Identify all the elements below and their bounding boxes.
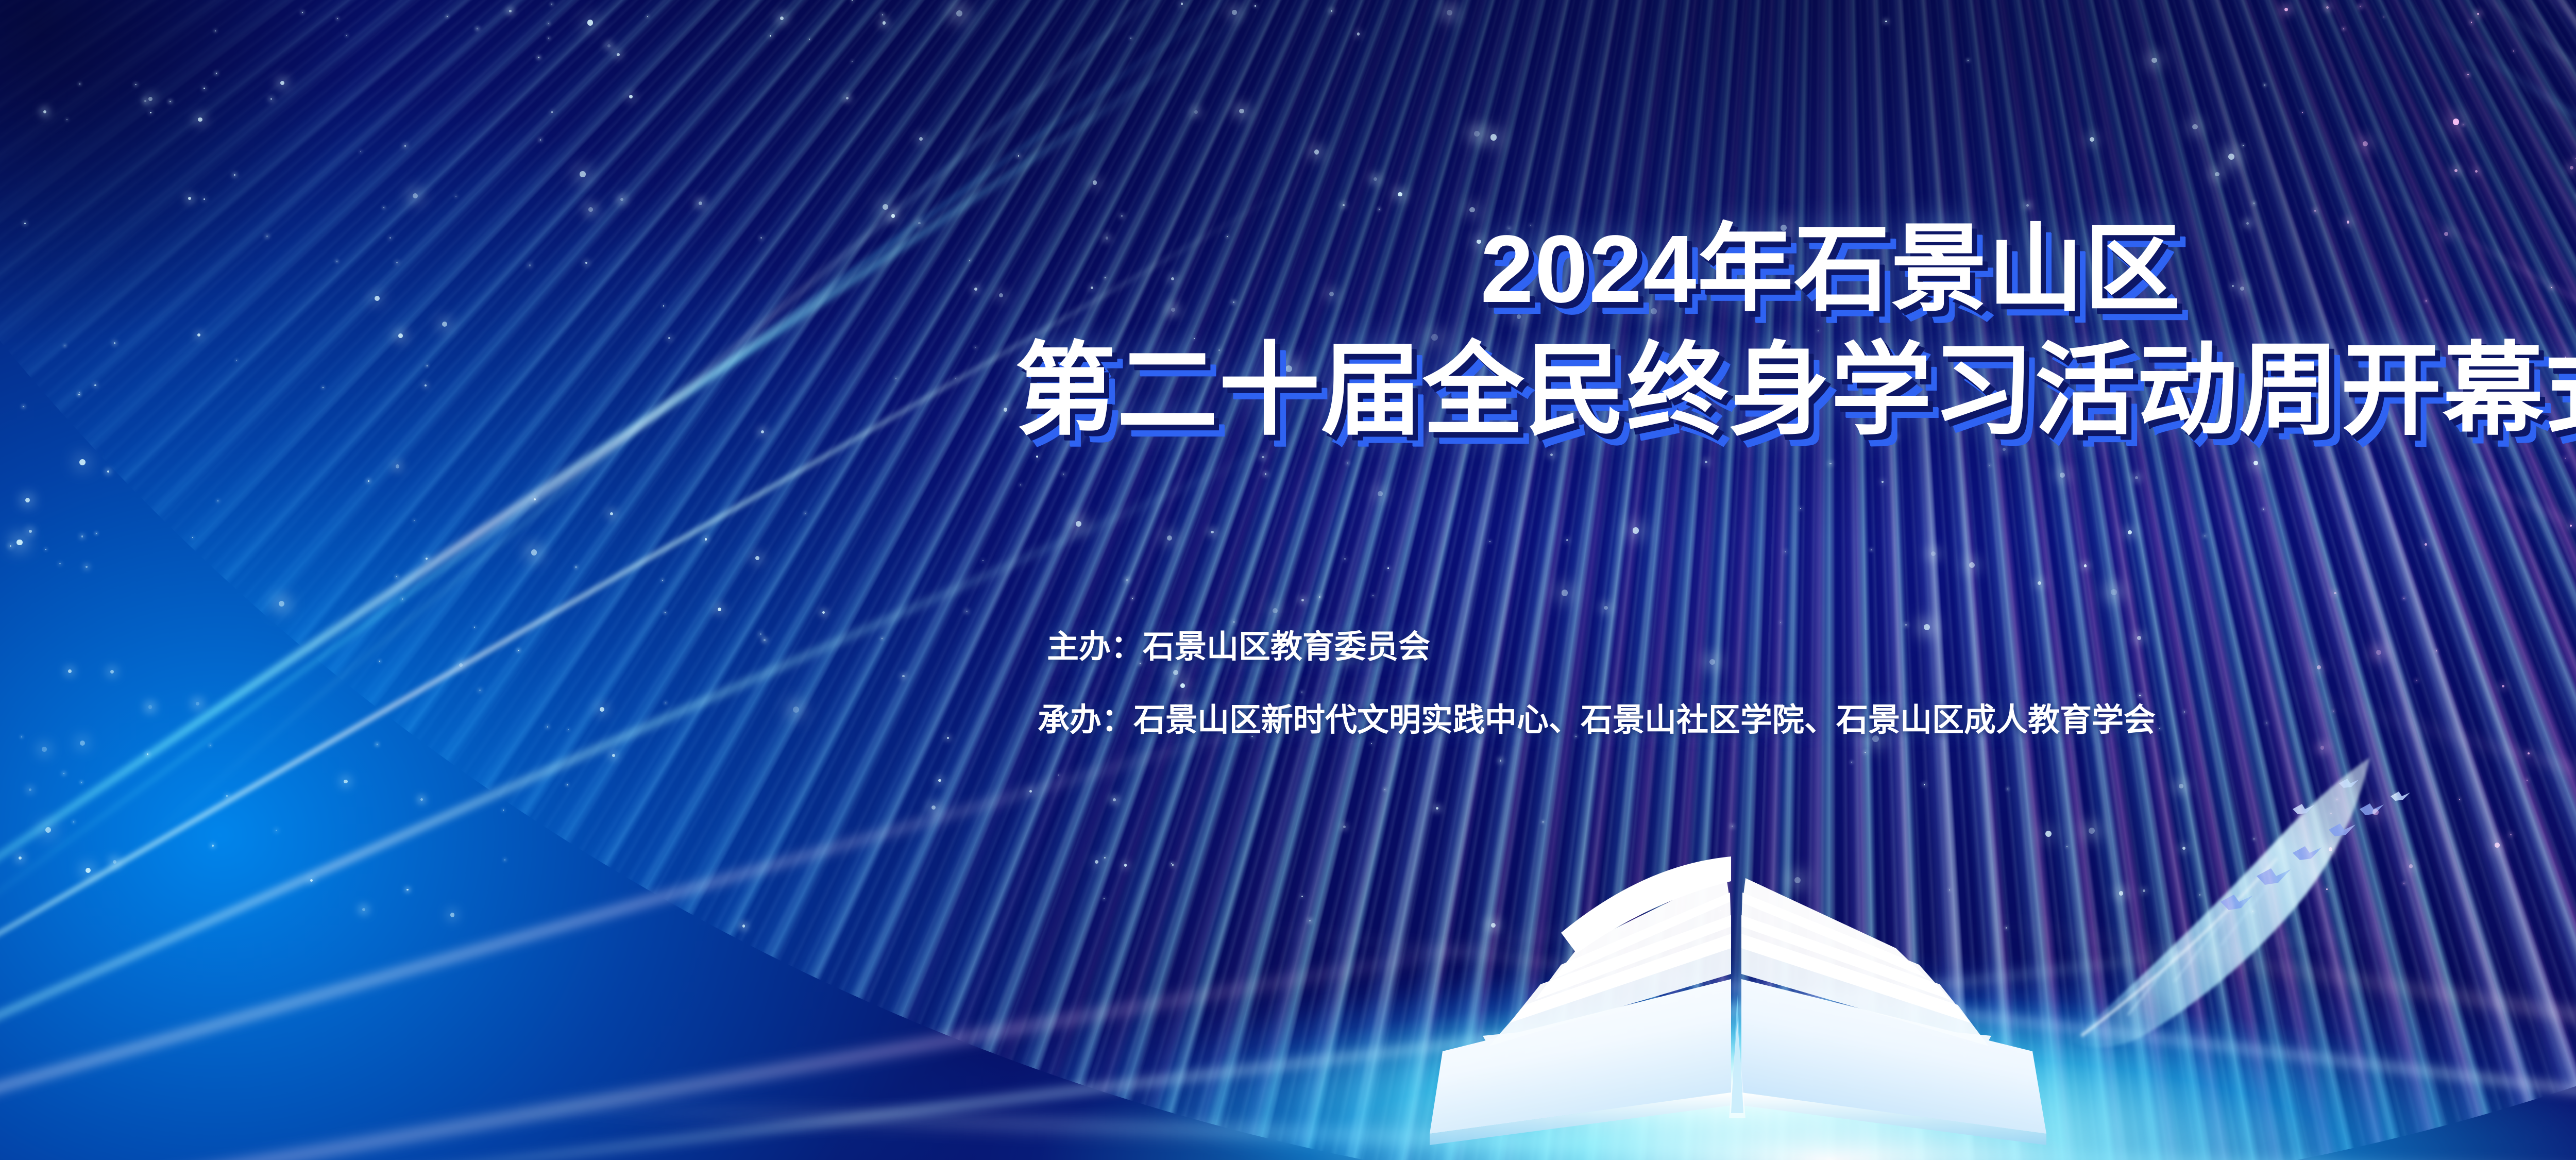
sparkle-dot (982, 560, 984, 562)
sparkle-dot (1095, 860, 1098, 864)
sparkle-dot (226, 795, 228, 797)
sparkle-dot (2495, 843, 2500, 848)
sparkle-dot (1331, 10, 1333, 12)
sparkle-dot (144, 100, 146, 102)
sparkle-dot (455, 196, 456, 197)
sparkle-dot (420, 798, 423, 801)
sparkle-dot (1018, 155, 1020, 157)
sparkle-dot (2376, 650, 2381, 655)
sparkle-dot (548, 38, 549, 39)
sparkle-dot (73, 821, 74, 822)
sparkle-dot (846, 97, 849, 99)
sparkle-dot (2038, 581, 2041, 585)
sparkle-dot (2253, 203, 2255, 204)
sparkle-dot (270, 98, 273, 100)
sparkle-dot (135, 84, 137, 86)
sparkle-dot (1255, 5, 1256, 7)
sparkle-dot (547, 726, 549, 728)
sparkle-dot (1232, 10, 1237, 15)
sparkle-dot (2128, 530, 2132, 534)
sparkle-dot (2090, 137, 2094, 142)
sparkle-dot (882, 638, 883, 639)
sparkle-dot (204, 198, 206, 200)
sparkle-dot (1387, 567, 1389, 569)
sparkle-dot (809, 39, 810, 40)
sparkle-dot (217, 500, 218, 501)
sparkle-dot (891, 214, 895, 217)
sparkle-dot (2502, 685, 2505, 688)
sparkle-dot (1851, 762, 1852, 763)
sparkle-dot (1562, 590, 1568, 596)
sparkle-dot (86, 566, 88, 568)
sparkle-dot (1398, 192, 1402, 196)
sparkle-dot (1126, 579, 1128, 581)
sparkle-dot (196, 702, 200, 706)
sparkle-dot (760, 633, 761, 635)
sparkle-dot (2204, 535, 2206, 537)
sparkle-dot (1265, 473, 1266, 475)
sparkle-dot (1344, 558, 1346, 560)
sparkle-dot (1029, 790, 1032, 793)
sparkle-dot (883, 204, 889, 210)
sparkle-dot (2467, 74, 2469, 76)
sparkle-dot (16, 540, 23, 546)
sparkle-dot (551, 4, 552, 5)
sparkle-dot (1113, 798, 1116, 801)
sparkle-dot (2192, 124, 2198, 130)
sparkle-dot (1447, 10, 1452, 15)
sparkle-dot (531, 549, 537, 555)
sparkle-dot (1273, 608, 1278, 613)
sparkle-dot (617, 53, 620, 56)
sparkle-dot (1566, 539, 1568, 541)
sparkle-dot (503, 810, 504, 811)
sparkle-dot (2314, 210, 2316, 211)
sparkle-dot (600, 707, 604, 712)
sparkle-dot (2565, 458, 2566, 459)
sparkle-dot (66, 119, 67, 120)
sparkle-dot (2334, 592, 2336, 594)
sparkle-dot (383, 207, 384, 208)
sparkle-dot (1104, 898, 1105, 899)
sparkle-dot (1171, 863, 1172, 864)
sparkle-dot (919, 137, 923, 141)
sparkle-dot (1436, 807, 1438, 810)
sparkle-dot (1800, 508, 1802, 510)
sparkle-dot (147, 753, 148, 755)
sparkle-dot (2007, 788, 2008, 789)
sparkle-dot (1550, 453, 1553, 456)
sparkle-dot (742, 924, 745, 927)
sparkle-dot (852, 61, 853, 62)
sparkle-dot (379, 661, 380, 662)
sparkle-dot (2111, 589, 2117, 595)
sparkle-dot (805, 513, 806, 514)
sparkle-dot (1301, 896, 1303, 897)
sparkle-dot (1633, 527, 1639, 533)
sparkle-dot (575, 566, 577, 567)
open-book-icon (1319, 825, 2154, 1160)
sparkle-dot (534, 498, 536, 500)
sparkle-dot (150, 112, 151, 113)
sparkle-dot (1865, 752, 1866, 753)
sparkle-dot (2343, 28, 2344, 29)
sparkle-dot (2453, 119, 2459, 125)
sparkle-dot (1374, 177, 1377, 181)
sparkle-dot (1489, 541, 1490, 542)
sparkle-dot (310, 879, 313, 882)
sparkle-dot (426, 558, 428, 560)
sparkle-dot (1121, 215, 1123, 216)
sparkle-dot (474, 627, 475, 628)
sparkle-dot (346, 35, 347, 36)
sparkle-dot (477, 28, 478, 29)
sparkle-dot (110, 670, 114, 674)
sparkle-dot (2317, 665, 2321, 669)
sparkle-dot (1378, 491, 1383, 496)
sparkle-dot (63, 773, 65, 775)
sparkle-dot (2360, 6, 2361, 7)
sparkle-dot (10, 545, 11, 547)
sparkle-dot (2159, 728, 2160, 729)
sparkle-dot (1194, 110, 1198, 114)
sparkle-dot (2527, 780, 2528, 781)
sparkle-dot (2513, 51, 2514, 52)
sparkle-dot (1301, 599, 1304, 601)
sparkle-dot (2475, 170, 2478, 173)
subtitle-co-organizer: 承办：石景山区新时代文明实践中心、石景山社区学院、石景山区成人教育学会 (1038, 704, 2156, 736)
sparkle-dot (86, 868, 91, 873)
sparkle-dot (42, 747, 47, 752)
sparkle-dot (1604, 606, 1608, 610)
sparkle-dot (2264, 85, 2265, 86)
sparkle-dot (96, 533, 97, 534)
sparkle-dot (1968, 60, 1969, 61)
sparkle-dot (198, 117, 202, 122)
sparkle-dot (1343, 204, 1345, 206)
sparkle-dot (2570, 166, 2573, 170)
sparkle-dot (344, 780, 348, 784)
sparkle-dot (551, 111, 553, 113)
sparkle-dot (509, 10, 512, 12)
sparkle-dot (21, 736, 22, 737)
sparkle-dot (629, 95, 633, 98)
sparkle-dot (2228, 154, 2234, 160)
sparkle-dot (79, 459, 86, 465)
sparkle-dot (1347, 462, 1349, 464)
sparkle-dot (956, 10, 962, 16)
sparkle-dot (2243, 145, 2244, 146)
sparkle-dot (459, 663, 463, 667)
sparkle-dot (81, 535, 83, 537)
sparkle-dot (1020, 484, 1021, 485)
sparkle-dot (413, 193, 418, 199)
sparkle-dot (2425, 543, 2427, 546)
sparkle-dot (1319, 596, 1320, 598)
sparkle-dot (1181, 3, 1183, 5)
sparkle-dot (938, 779, 941, 782)
sparkle-dot (705, 538, 707, 540)
sparkle-dot (2528, 752, 2530, 754)
sparkle-dot (1871, 549, 1872, 550)
sparkle-dot (610, 512, 614, 516)
sparkle-dot (1543, 821, 1544, 822)
sparkle-dot (234, 174, 235, 176)
sparkle-dot (402, 598, 403, 600)
sparkle-dot (1132, 598, 1133, 599)
sparkle-dot (902, 675, 904, 677)
sparkle-dot (1036, 456, 1038, 458)
sparkle-dot (148, 97, 152, 101)
sparkle-dot (538, 57, 539, 58)
sparkle-dot (2026, 204, 2029, 207)
sparkle-dot (170, 101, 171, 103)
sparkle-dot (822, 611, 825, 614)
title-line-2: 第二十届全民终身学习活动周开幕式 (0, 340, 2576, 441)
title-line-1: 2024年石景山区 (0, 222, 2576, 317)
sparkle-dot (1490, 134, 1497, 141)
sparkle-dot (1384, 789, 1385, 790)
sparkle-dot (360, 151, 361, 152)
sparkle-dot (81, 782, 82, 783)
sparkle-dot (1989, 465, 1990, 466)
sparkle-dot (2084, 564, 2087, 567)
sparkle-dot (404, 145, 406, 146)
sparkle-dot (2477, 13, 2480, 15)
sparkle-dot (1372, 595, 1374, 596)
sparkle-dot (192, 537, 193, 538)
sparkle-dot (2363, 141, 2368, 146)
sparkle-dot (548, 23, 549, 24)
sparkle-dot (2135, 476, 2138, 479)
sparkle-dot (764, 639, 766, 641)
sparkle-dot (19, 856, 22, 860)
sparkle-dot (2326, 6, 2329, 9)
sparkle-dot (1931, 551, 1936, 556)
sparkle-dot (966, 611, 968, 612)
sparkle-dot (377, 744, 378, 745)
sparkle-dot (662, 580, 663, 581)
sparkle-dot (2416, 680, 2417, 681)
sparkle-dot (1076, 521, 1081, 527)
sparkle-dot (647, 16, 648, 17)
sparkle-dot (612, 754, 615, 757)
sparkle-dot (2471, 22, 2472, 23)
sparkle-dot (1882, 481, 1884, 483)
sparkle-dot (1058, 775, 1059, 776)
sparkle-dot (2266, 722, 2267, 724)
sparkle-dot (1379, 209, 1380, 210)
sparkle-dot (1905, 624, 1907, 626)
sparkle-dot (215, 30, 216, 31)
sparkle-dot (2403, 598, 2404, 599)
sparkle-dot (567, 784, 568, 785)
sparkle-dot (68, 669, 72, 673)
banner-stage: 2024年石景山区 第二十届全民终身学习活动周开幕式 主办：石景山区教育委员会 … (0, 0, 2576, 1160)
sparkle-dot (770, 35, 772, 37)
sparkle-dot (1780, 622, 1781, 623)
sparkle-dot (2284, 8, 2288, 11)
sparkle-dot (2184, 711, 2185, 712)
sparkle-dot (368, 480, 369, 482)
sparkle-dot (2463, 124, 2464, 125)
sparkle-dot (216, 73, 217, 74)
sparkle-dot (80, 741, 85, 746)
sparkle-dot (665, 612, 666, 613)
sparkle-dot (479, 690, 481, 691)
sparkle-dot (396, 464, 399, 468)
sparkle-dot (1211, 531, 1214, 534)
sparkle-dot (665, 702, 666, 703)
sparkle-dot (1705, 461, 1707, 463)
sparkle-dot (718, 608, 721, 611)
sparkle-dot (2151, 58, 2157, 63)
sparkle-dot (1500, 760, 1502, 762)
sparkle-dot (2253, 461, 2258, 465)
sparkle-dot (29, 788, 32, 792)
sparkle-dot (2459, 799, 2460, 800)
sparkle-dot (1239, 109, 1244, 114)
sparkle-dot (883, 21, 886, 24)
sparkle-dot (1309, 920, 1311, 921)
sparkle-dot (279, 601, 284, 607)
sparkle-dot (2302, 112, 2303, 113)
sparkle-dot (280, 81, 284, 85)
sparkle-dot (1130, 38, 1131, 39)
sparkle-dot (276, 830, 277, 831)
sparkle-dot (396, 576, 398, 578)
sparkle-dot (793, 707, 799, 713)
sparkle-dot (504, 859, 505, 860)
sparkle-dot (212, 845, 214, 847)
sparkle-dot (2570, 525, 2572, 527)
sparkle-dot (580, 171, 586, 177)
sparkle-dot (882, 14, 884, 15)
sparkle-dot (29, 530, 32, 533)
sparkle-dot (1104, 857, 1106, 859)
sparkle-dot (450, 913, 454, 917)
sparkle-dot (2060, 473, 2065, 478)
sparkle-dot (107, 470, 109, 473)
sparkle-dot (59, 563, 61, 565)
sparkle-dot (406, 889, 409, 891)
sparkle-dot (302, 12, 303, 13)
sparkle-dot (1474, 131, 1480, 137)
sparkle-dot (204, 88, 205, 89)
sparkle-dot (931, 805, 936, 810)
sparkle-dot (2510, 834, 2512, 835)
sparkle-dot (699, 201, 702, 205)
sparkle-dot (1172, 864, 1174, 866)
sparkle-dot (1371, 743, 1372, 744)
subtitle-block: 主办：石景山区教育委员会 承办：石景山区新时代文明实践中心、石景山社区学院、石景… (1047, 631, 2156, 736)
sparkle-dot (79, 83, 80, 85)
sparkle-dot (1469, 207, 1475, 213)
sparkle-dot (755, 556, 759, 560)
sparkle-dot (414, 520, 415, 521)
sparkle-dot (1924, 624, 1930, 630)
sparkle-dot (2003, 448, 2006, 451)
sparkle-dot (2263, 509, 2264, 510)
sparkle-dot (620, 198, 624, 201)
subtitle-organizer: 主办：石景山区教育委员会 (1047, 631, 2156, 663)
sparkle-dot (607, 44, 611, 47)
sparkle-dot (1357, 32, 1360, 35)
sparkle-dot (1314, 149, 1319, 155)
sparkle-dot (337, 18, 338, 19)
sparkle-dot (1262, 456, 1264, 458)
sparkle-dot (45, 827, 52, 833)
title-block: 2024年石景山区 第二十届全民终身学习活动周开幕式 (0, 222, 2576, 441)
sparkle-dot (25, 498, 30, 502)
sparkle-dot (1063, 474, 1064, 475)
sparkle-dot (852, 0, 853, 1)
sparkle-dot (113, 860, 116, 864)
sparkle-dot (45, 549, 46, 550)
sparkle-dot (43, 110, 46, 113)
sparkle-dot (1885, 21, 1887, 22)
sparkle-dot (1093, 180, 1097, 185)
sparkle-dot (1167, 535, 1172, 541)
sparkle-dot (540, 139, 541, 141)
sparkle-dot (1969, 562, 1975, 568)
sparkle-dot (2215, 172, 2219, 177)
sparkle-dot (780, 16, 784, 21)
sparkle-dot (1233, 621, 1234, 623)
sparkle-dot (2383, 16, 2384, 18)
sparkle-dot (1785, 551, 1786, 552)
sparkle-dot (210, 745, 211, 746)
sparkle-dot (1124, 864, 1127, 867)
sparkle-dot (1924, 784, 1925, 785)
sparkle-dot (447, 16, 448, 17)
sparkle-dot (588, 207, 593, 212)
sparkle-dot (188, 197, 191, 200)
sparkle-dot (1829, 463, 1831, 464)
sparkle-dot (362, 908, 366, 912)
sparkle-dot (2333, 711, 2334, 712)
sparkle-dot (148, 705, 152, 709)
sparkle-dot (2436, 650, 2437, 651)
sparkle-dot (518, 650, 519, 651)
sparkle-dot (947, 737, 949, 739)
sparkle-dot (2454, 169, 2458, 172)
sparkle-dot (568, 729, 569, 730)
sparkle-dot (587, 20, 594, 26)
